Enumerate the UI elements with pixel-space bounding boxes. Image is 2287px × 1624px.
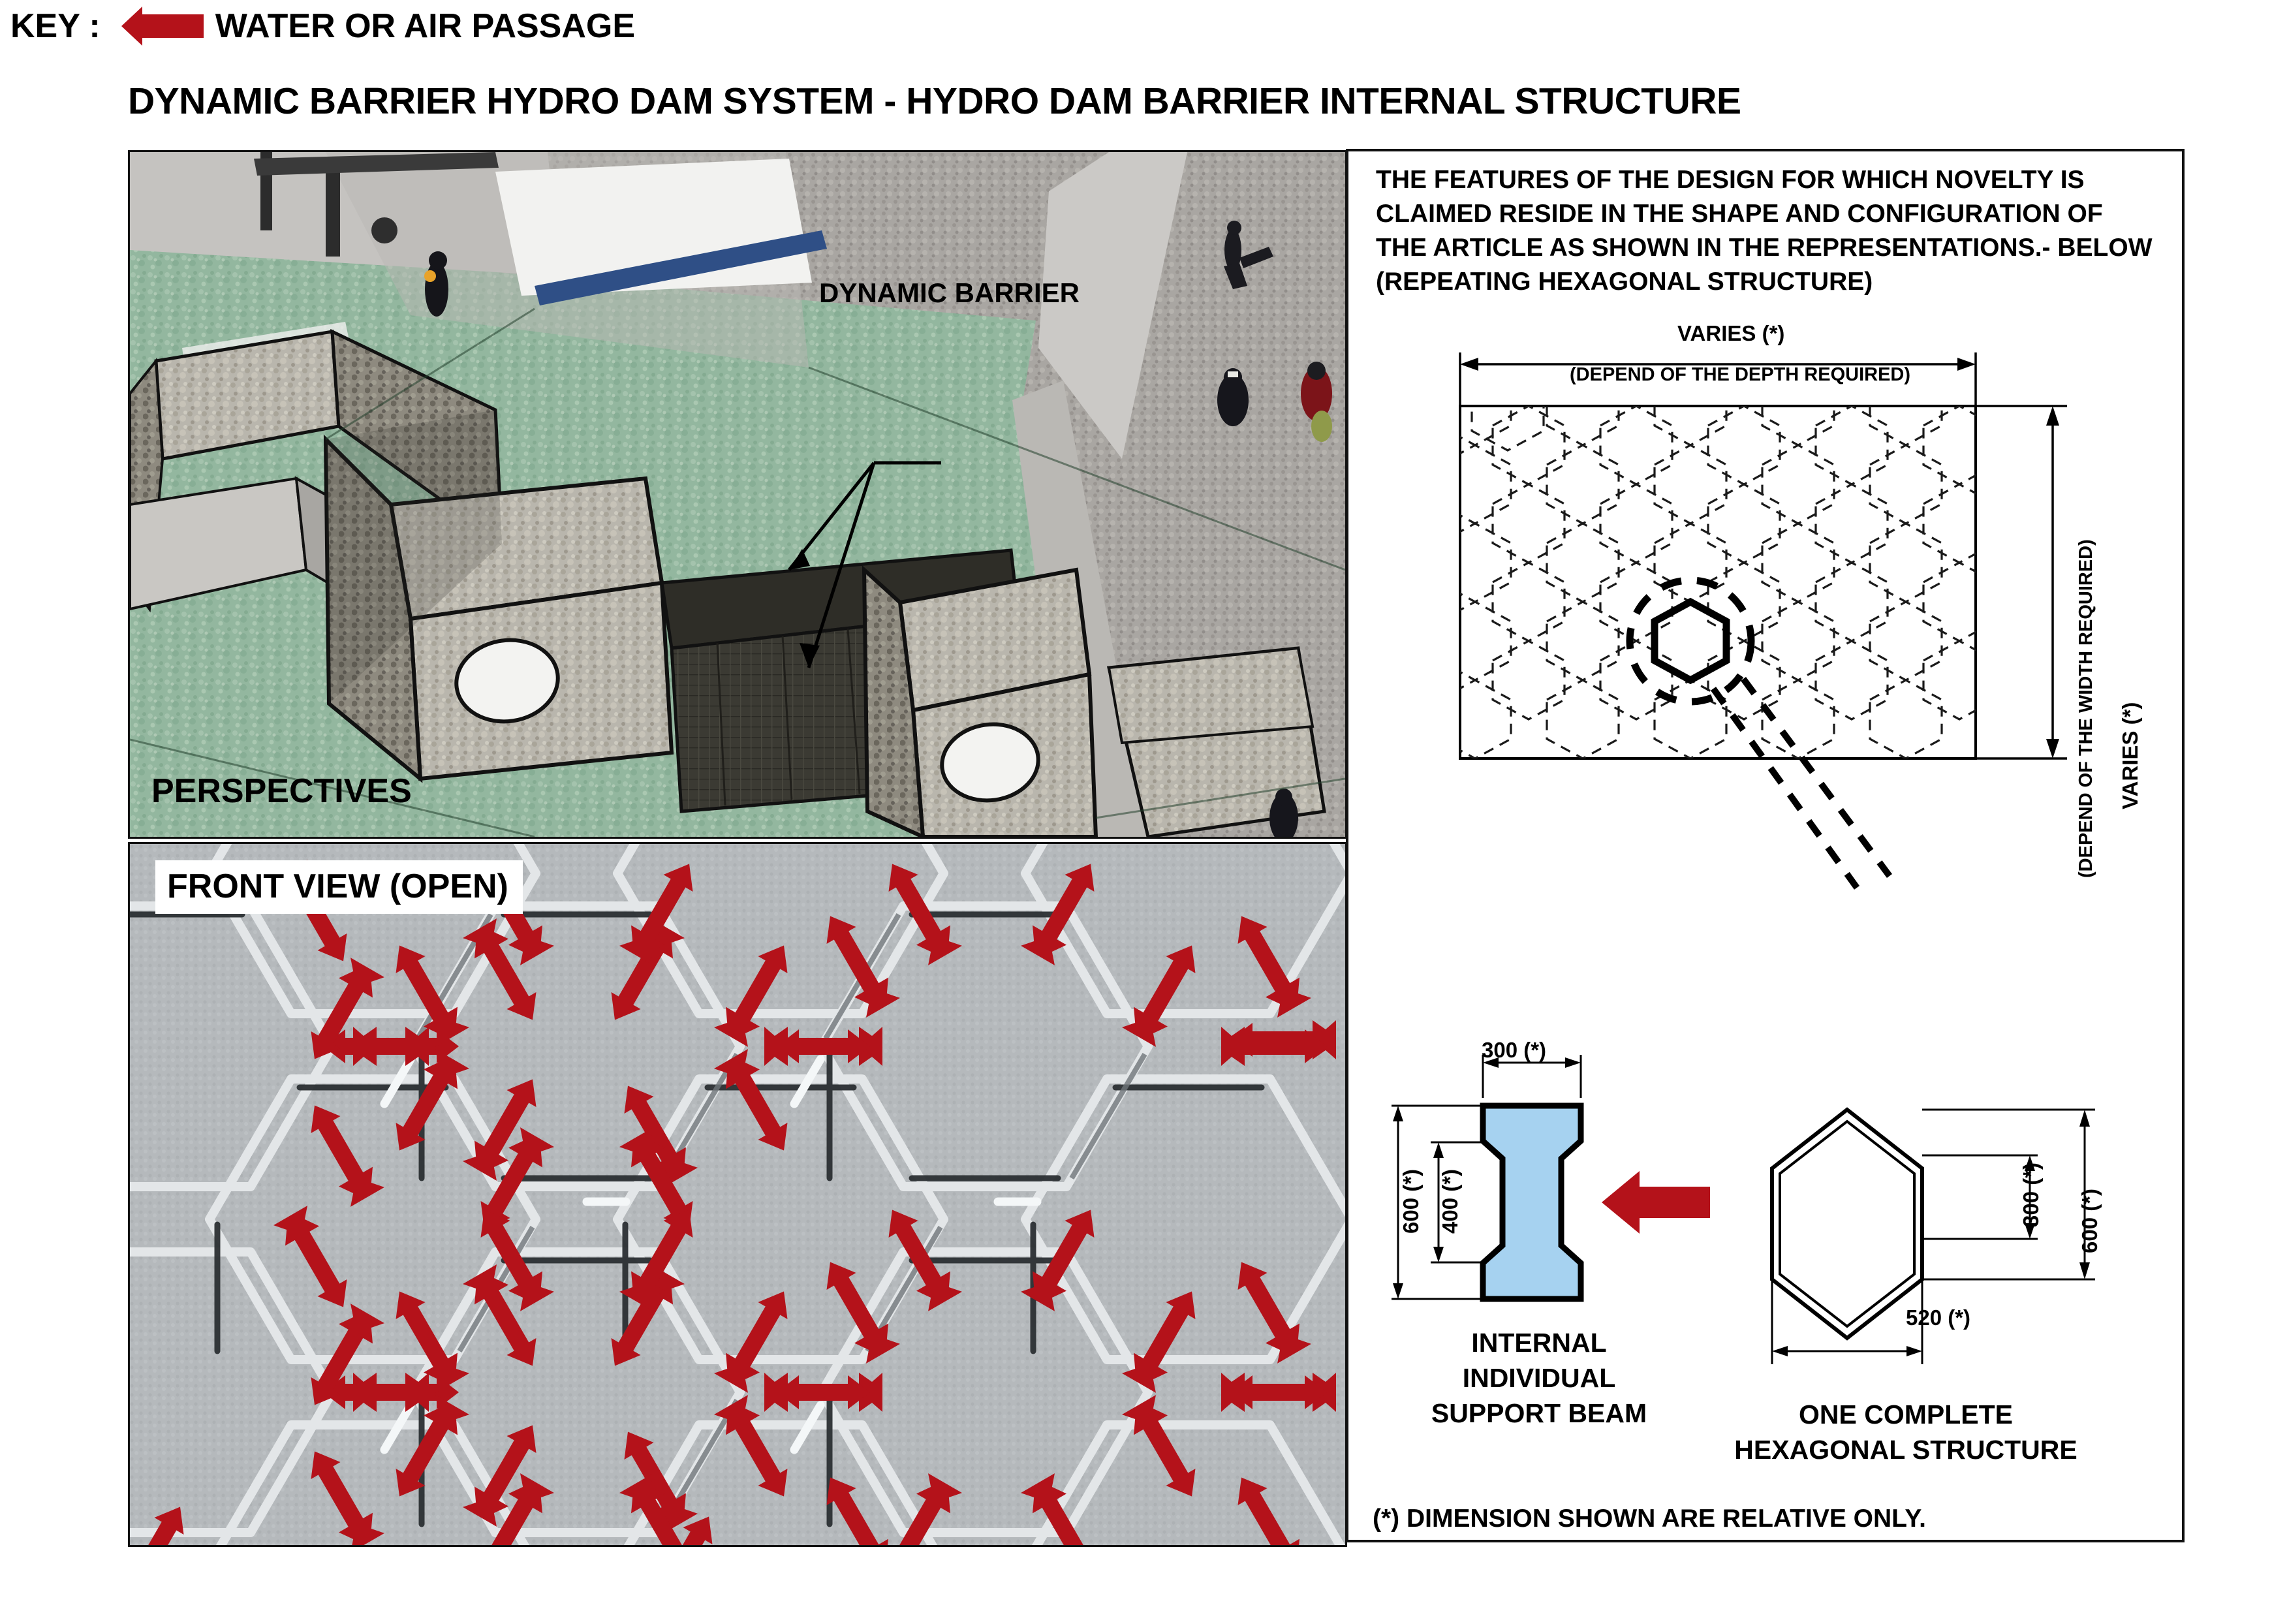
grid-top-dimension-label: VARIES (*) [1677, 321, 1784, 346]
hexagon-side-dimension: 300 (*) [2019, 1163, 2044, 1227]
beam-inner-height-dimension: 400 (*) [1438, 1169, 1463, 1234]
hexagonal-grid-diagram [1374, 313, 2157, 933]
key-label: KEY : [10, 9, 101, 43]
internal-support-beam-detail [1384, 1025, 1723, 1332]
dynamic-barrier-callout-label: DYNAMIC BARRIER [819, 277, 1080, 309]
front-view-honeycomb-diagram [130, 844, 1345, 1545]
hexagon-caption: ONE COMPLETE HEXAGONAL STRUCTURE [1723, 1397, 2089, 1467]
beam-source-arrow-icon [1602, 1171, 1710, 1234]
grid-right-dimension-note: (DEPEND OF THE WIDTH REQUIRED) [2076, 539, 2097, 878]
beam-outer-height-dimension: 600 (*) [1399, 1169, 1424, 1234]
perspectives-view-label: PERSPECTIVES [151, 772, 412, 811]
key-meaning-label: WATER OR AIR PASSAGE [215, 9, 635, 43]
dimension-footnote: (*) DIMENSION SHOWN ARE RELATIVE ONLY. [1373, 1505, 1926, 1533]
front-view-label: FRONT VIEW (OPEN) [155, 860, 523, 914]
beam-caption: INTERNAL INDIVIDUAL SUPPORT BEAM [1395, 1325, 1683, 1431]
perspective-view-panel [128, 150, 1347, 839]
legend-key: KEY : WATER OR AIR PASSAGE [0, 0, 2287, 52]
beam-cross-section [1483, 1106, 1581, 1299]
hexagon-outer-outline [1772, 1110, 1922, 1338]
hexagon-width-dimension: 520 (*) [1906, 1305, 1970, 1330]
water-air-passage-arrow-icon [112, 5, 204, 47]
grid-right-dimension-label: VARIES (*) [2118, 702, 2143, 809]
beam-width-dimension: 300 (*) [1482, 1038, 1546, 1063]
page-title: DYNAMIC BARRIER HYDRO DAM SYSTEM - HYDRO… [128, 80, 1741, 123]
hexagon-height-dimension: 600 (*) [2077, 1189, 2102, 1253]
hexagon-inner-outline [1780, 1121, 1914, 1326]
perspective-scene [130, 152, 1345, 837]
grid-top-dimension-note: (DEPEND OF THE DEPTH REQUIRED) [1570, 364, 1910, 386]
novelty-statement-text: THE FEATURES OF THE DESIGN FOR WHICH NOV… [1376, 163, 2156, 298]
front-view-panel [128, 842, 1347, 1547]
